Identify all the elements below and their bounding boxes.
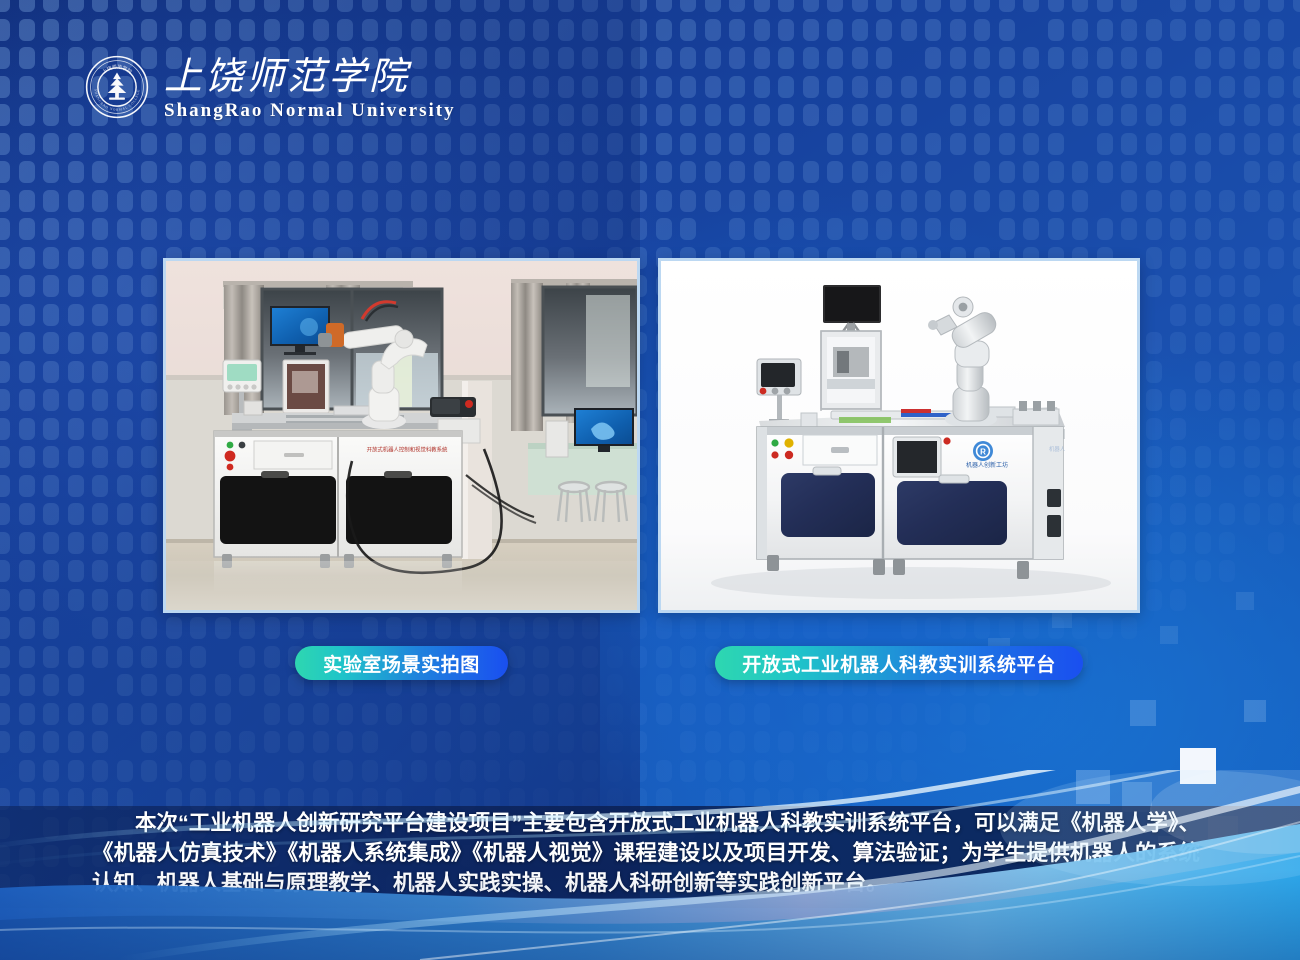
equipment-logo-left-text: 机器人创新工坊 (966, 461, 1008, 469)
accent-square (1130, 700, 1156, 726)
equipment-side-logo: 机器人 (1049, 445, 1066, 453)
caption-pill-lab-scene-label: 实验室场景实拍图 (323, 650, 480, 677)
university-crest-icon: 上饶师范学院 SHANGRAO NORMAL COLLEGE (84, 54, 150, 120)
accent-square (1076, 770, 1110, 804)
university-name-cn-text: 上饶师范学院 (164, 56, 412, 98)
university-logo: 上饶师范学院 SHANGRAO NORMAL COLLEGE 上饶师范学院 Sh… (84, 52, 456, 122)
lab-scene-photo[interactable]: 开放式机器人控制和视觉科教系统 (163, 258, 640, 613)
project-description: 本次“工业机器人创新研究平台建设项目”主要包含开放式工业机器人科教实训系统平台，… (0, 808, 1300, 898)
caption-pill-training-platform[interactable]: 开放式工业机器人科教实训系统平台 (715, 646, 1083, 680)
accent-square (1160, 626, 1178, 644)
project-description-text: 本次“工业机器人创新研究平台建设项目”主要包含开放式工业机器人科教实训系统平台，… (0, 808, 1300, 898)
training-platform-render[interactable]: R 机器人创新工坊 机器人 (658, 258, 1140, 613)
university-wordmark: 上饶师范学院 ShangRao Normal University (164, 52, 456, 122)
caption-pill-lab-scene[interactable]: 实验室场景实拍图 (295, 646, 508, 680)
university-name-cn-calligraphy: 上饶师范学院 (164, 52, 456, 98)
accent-square (1180, 748, 1216, 784)
training-platform-illustration: R 机器人创新工坊 机器人 (661, 261, 1137, 610)
equipment-label-left: 开放式机器人控制和视觉科教系统 (367, 446, 448, 454)
slide-canvas: 上饶师范学院 SHANGRAO NORMAL COLLEGE 上饶师范学院 Sh… (0, 0, 1300, 960)
calligraphy-glyphs: 上饶师范学院 (164, 52, 416, 98)
university-name-en: ShangRao Normal University (164, 100, 456, 122)
accent-square (1236, 592, 1254, 610)
lab-scene-illustration: 开放式机器人控制和视觉科教系统 (166, 261, 637, 610)
accent-square (1244, 700, 1266, 722)
caption-pill-training-platform-label: 开放式工业机器人科教实训系统平台 (742, 650, 1056, 677)
svg-text:R: R (980, 448, 986, 457)
